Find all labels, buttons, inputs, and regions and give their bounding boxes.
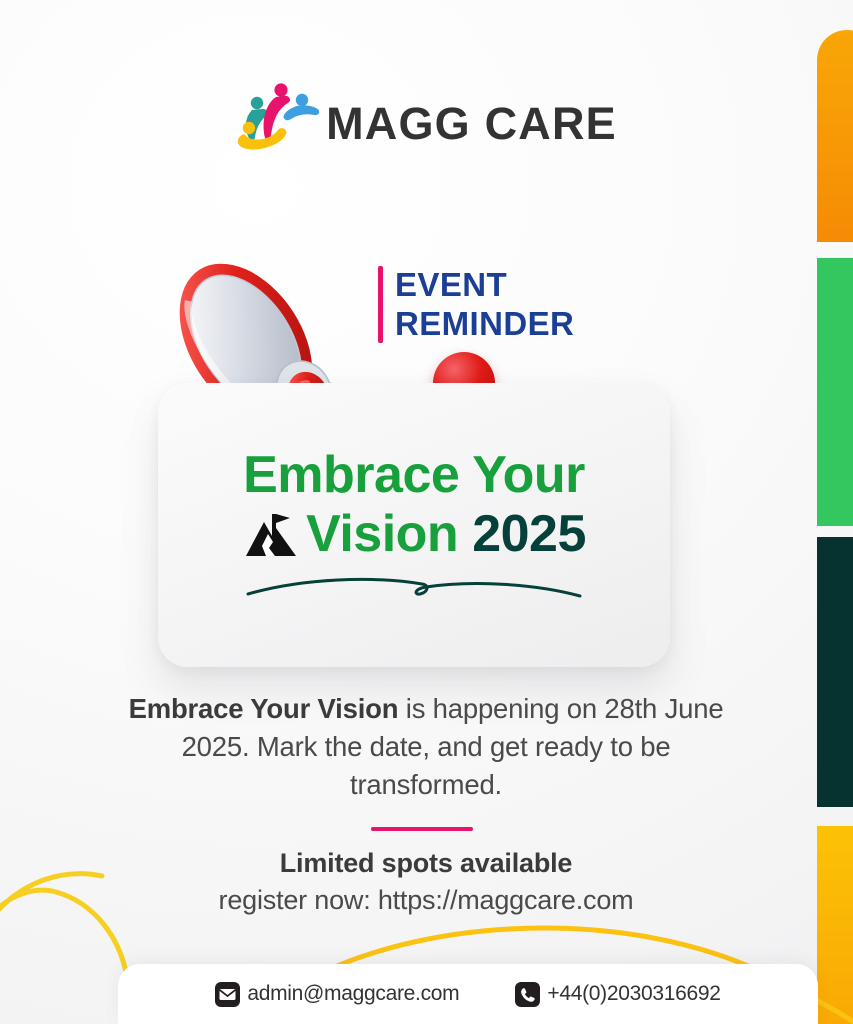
- contact-bar: admin@maggcare.com +44(0)2030316692: [118, 964, 818, 1024]
- pink-divider: [371, 827, 473, 831]
- contact-email-text: admin@maggcare.com: [247, 982, 459, 1006]
- eyebrow-line-1: EVENT: [395, 266, 574, 305]
- magg-care-people-logo-icon: [236, 78, 322, 152]
- body-copy: Embrace Your Vision is happening on 28th…: [126, 690, 726, 804]
- edge-bar-teal: [817, 537, 853, 807]
- envelope-icon: [215, 982, 240, 1007]
- edge-bar-green: [817, 258, 853, 526]
- cta-limited-spots: Limited spots available: [126, 848, 726, 879]
- mountain-flag-icon: [242, 508, 300, 560]
- event-reminder-eyebrow: EVENT REMINDER: [378, 266, 574, 343]
- headline-underline-squiggle: [244, 572, 584, 602]
- headline-card: Embrace Your Vision 2025: [158, 383, 670, 667]
- cta-register-link[interactable]: register now: https://maggcare.com: [126, 885, 726, 916]
- phone-icon: [515, 982, 540, 1007]
- headline-line-1: Embrace Your: [243, 448, 585, 503]
- eyebrow-line-2: REMINDER: [395, 305, 574, 344]
- flyer-canvas: MAGG CARE: [0, 0, 853, 1024]
- cta-block: Limited spots available register now: ht…: [126, 848, 726, 916]
- headline-year: 2025: [472, 507, 586, 562]
- eyebrow-accent-bar: [378, 266, 383, 343]
- headline-vision: Vision: [306, 507, 458, 562]
- body-copy-lead: Embrace Your Vision: [129, 693, 399, 724]
- contact-phone[interactable]: +44(0)2030316692: [515, 982, 720, 1007]
- brand-wordmark: MAGG CARE: [326, 101, 617, 154]
- contact-phone-text: +44(0)2030316692: [547, 982, 720, 1006]
- contact-email[interactable]: admin@maggcare.com: [215, 982, 459, 1007]
- brand-logo: MAGG CARE: [0, 78, 853, 154]
- edge-bar-yellow: [817, 826, 853, 1024]
